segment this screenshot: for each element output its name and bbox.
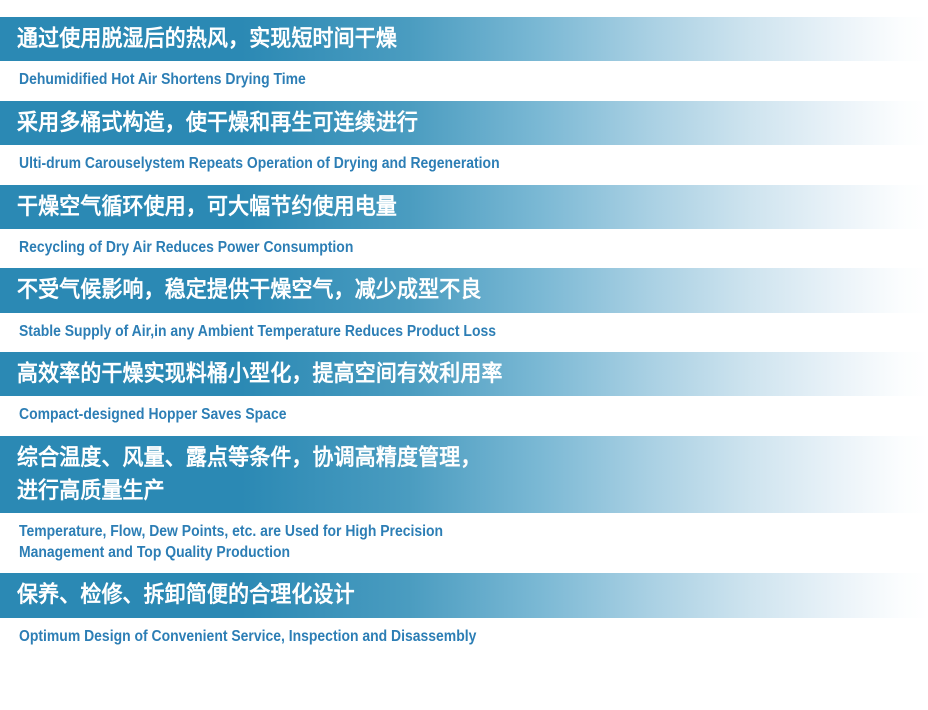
feature-headline-bar: 通过使用脱湿后的热风，实现短时间干燥	[0, 17, 928, 61]
feature-headline-bar: 不受气候影响，稳定提供干燥空气，减少成型不良	[0, 268, 928, 312]
feature-subtitle-text: Temperature, Flow, Dew Points, etc. are …	[19, 522, 837, 563]
feature-headline-text: 高效率的干燥实现料桶小型化，提高空间有效利用率	[17, 357, 864, 390]
feature-headline-bar: 干燥空气循环使用，可大幅节约使用电量	[0, 185, 928, 229]
feature-subtitle: Dehumidified Hot Air Shortens Drying Tim…	[0, 61, 928, 100]
feature-subtitle: Temperature, Flow, Dew Points, etc. are …	[0, 513, 928, 573]
feature-headline-text: 综合温度、风量、露点等条件，协调高精度管理， 进行高质量生产	[17, 441, 864, 508]
feature-subtitle: Ulti-drum Carouselystem Repeats Operatio…	[0, 145, 928, 184]
feature-subtitle-text: Compact-designed Hopper Saves Space	[19, 405, 837, 425]
feature-headline-bar: 保养、检修、拆卸简便的合理化设计	[0, 573, 928, 617]
feature-subtitle-text: Recycling of Dry Air Reduces Power Consu…	[19, 238, 837, 258]
feature-headline-bar: 高效率的干燥实现料桶小型化，提高空间有效利用率	[0, 352, 928, 396]
feature-headline-text: 不受气候影响，稳定提供干燥空气，减少成型不良	[17, 273, 864, 306]
feature-headline-text: 保养、检修、拆卸简便的合理化设计	[17, 578, 864, 611]
feature-item: 干燥空气循环使用，可大幅节约使用电量 Recycling of Dry Air …	[0, 185, 928, 269]
feature-headline-text: 干燥空气循环使用，可大幅节约使用电量	[17, 190, 864, 223]
feature-subtitle: Recycling of Dry Air Reduces Power Consu…	[0, 229, 928, 268]
feature-item: 采用多桶式构造，使干燥和再生可连续进行 Ulti-drum Carouselys…	[0, 101, 928, 185]
feature-subtitle: Optimum Design of Convenient Service, In…	[0, 618, 928, 657]
feature-item: 通过使用脱湿后的热风，实现短时间干燥 Dehumidified Hot Air …	[0, 17, 928, 101]
feature-item: 不受气候影响，稳定提供干燥空气，减少成型不良 Stable Supply of …	[0, 268, 928, 352]
feature-subtitle: Stable Supply of Air,in any Ambient Temp…	[0, 313, 928, 352]
feature-item: 综合温度、风量、露点等条件，协调高精度管理， 进行高质量生产 Temperatu…	[0, 436, 928, 574]
feature-subtitle-text: Optimum Design of Convenient Service, In…	[19, 627, 837, 647]
feature-subtitle-text: Dehumidified Hot Air Shortens Drying Tim…	[19, 70, 837, 90]
feature-item: 保养、检修、拆卸简便的合理化设计 Optimum Design of Conve…	[0, 573, 928, 657]
feature-subtitle-text: Stable Supply of Air,in any Ambient Temp…	[19, 322, 837, 342]
feature-headline-text: 通过使用脱湿后的热风，实现短时间干燥	[17, 22, 864, 55]
feature-headline-text: 采用多桶式构造，使干燥和再生可连续进行	[17, 106, 864, 139]
feature-subtitle-text: Ulti-drum Carouselystem Repeats Operatio…	[19, 154, 837, 174]
feature-headline-bar: 综合温度、风量、露点等条件，协调高精度管理， 进行高质量生产	[0, 436, 928, 514]
feature-list: 通过使用脱湿后的热风，实现短时间干燥 Dehumidified Hot Air …	[0, 0, 928, 657]
feature-item: 高效率的干燥实现料桶小型化，提高空间有效利用率 Compact-designed…	[0, 352, 928, 436]
feature-headline-bar: 采用多桶式构造，使干燥和再生可连续进行	[0, 101, 928, 145]
feature-subtitle: Compact-designed Hopper Saves Space	[0, 396, 928, 435]
